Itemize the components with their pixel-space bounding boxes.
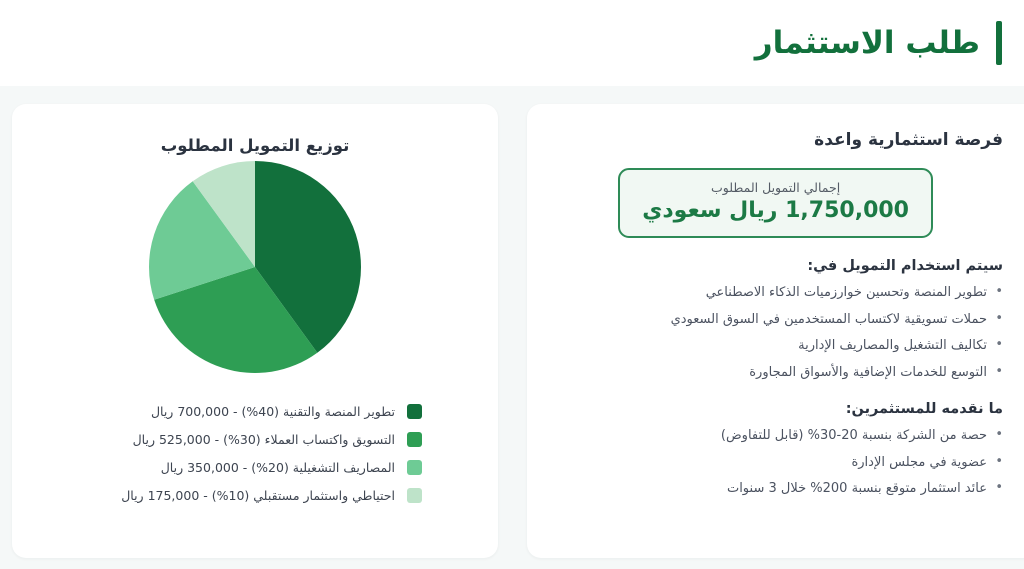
funding-usage-item: التوسع للخدمات الإضافية والأسواق المجاور… bbox=[561, 364, 1003, 382]
funding-distribution-card: توزيع التمويل المطلوب تطوير المنصة والتق… bbox=[12, 104, 498, 558]
funding-usage-title: سيتم استخدام التمويل في: bbox=[561, 258, 1003, 274]
legend-label: تطوير المنصة والتقنية (40%) - 700,000 ري… bbox=[82, 404, 395, 419]
pie-chart bbox=[12, 159, 498, 375]
funding-usage-item: تكاليف التشغيل والمصاريف الإدارية bbox=[561, 337, 1003, 355]
investor-offer-title: ما نقدمه للمستثمرين: bbox=[561, 401, 1003, 417]
page-title: طلب الاستثمار bbox=[755, 25, 980, 61]
investor-offer-item: حصة من الشركة بنسبة 20-30% (قابل للتفاوض… bbox=[561, 427, 1003, 445]
legend-swatch bbox=[407, 404, 422, 419]
investor-offer-list: حصة من الشركة بنسبة 20-30% (قابل للتفاوض… bbox=[561, 427, 1003, 498]
funding-usage-item: تطوير المنصة وتحسين خوارزميات الذكاء الا… bbox=[561, 284, 1003, 302]
legend-item: التسويق واكتساب العملاء (30%) - 525,000 … bbox=[82, 432, 422, 447]
total-funding-label: إجمالي التمويل المطلوب bbox=[642, 180, 909, 195]
funding-usage-list: تطوير المنصة وتحسين خوارزميات الذكاء الا… bbox=[561, 284, 1003, 381]
legend-label: احتياطي واستثمار مستقبلي (10%) - 175,000… bbox=[82, 488, 395, 503]
chart-title: توزيع التمويل المطلوب bbox=[12, 136, 498, 155]
legend-label: التسويق واكتساب العملاء (30%) - 525,000 … bbox=[82, 432, 395, 447]
legend-item: تطوير المنصة والتقنية (40%) - 700,000 ري… bbox=[82, 404, 422, 419]
legend-swatch bbox=[407, 488, 422, 503]
legend-item: احتياطي واستثمار مستقبلي (10%) - 175,000… bbox=[82, 488, 422, 503]
page-header: طلب الاستثمار bbox=[0, 0, 1024, 86]
funding-usage-item: حملات تسويقية لاكتساب المستخدمين في السو… bbox=[561, 311, 1003, 329]
investment-request-page: طلب الاستثمار توزيع التمويل المطلوب تطوي… bbox=[0, 0, 1024, 569]
funding-usage-section: سيتم استخدام التمويل في: تطوير المنصة وت… bbox=[561, 258, 1003, 381]
panel-title: فرصة استثمارية واعدة bbox=[561, 130, 1003, 150]
investor-offer-section: ما نقدمه للمستثمرين: حصة من الشركة بنسبة… bbox=[561, 401, 1003, 498]
legend-swatch bbox=[407, 460, 422, 475]
total-funding-amount: 1,750,000 ريال سعودي bbox=[642, 198, 909, 223]
investor-offer-item: عضوية في مجلس الإدارة bbox=[561, 454, 1003, 472]
total-funding-highlight: إجمالي التمويل المطلوب 1,750,000 ريال سع… bbox=[618, 168, 933, 238]
pie-chart-svg bbox=[147, 159, 363, 375]
investor-offer-item: عائد استثمار متوقع بنسبة 200% خلال 3 سنو… bbox=[561, 480, 1003, 498]
investment-opportunity-card: فرصة استثمارية واعدة إجمالي التمويل المط… bbox=[527, 104, 1024, 558]
legend-swatch bbox=[407, 432, 422, 447]
legend-label: المصاريف التشغيلية (20%) - 350,000 ريال bbox=[82, 460, 395, 475]
legend-item: المصاريف التشغيلية (20%) - 350,000 ريال bbox=[82, 460, 422, 475]
chart-legend: تطوير المنصة والتقنية (40%) - 700,000 ري… bbox=[12, 404, 498, 503]
header-accent-bar bbox=[996, 21, 1002, 65]
